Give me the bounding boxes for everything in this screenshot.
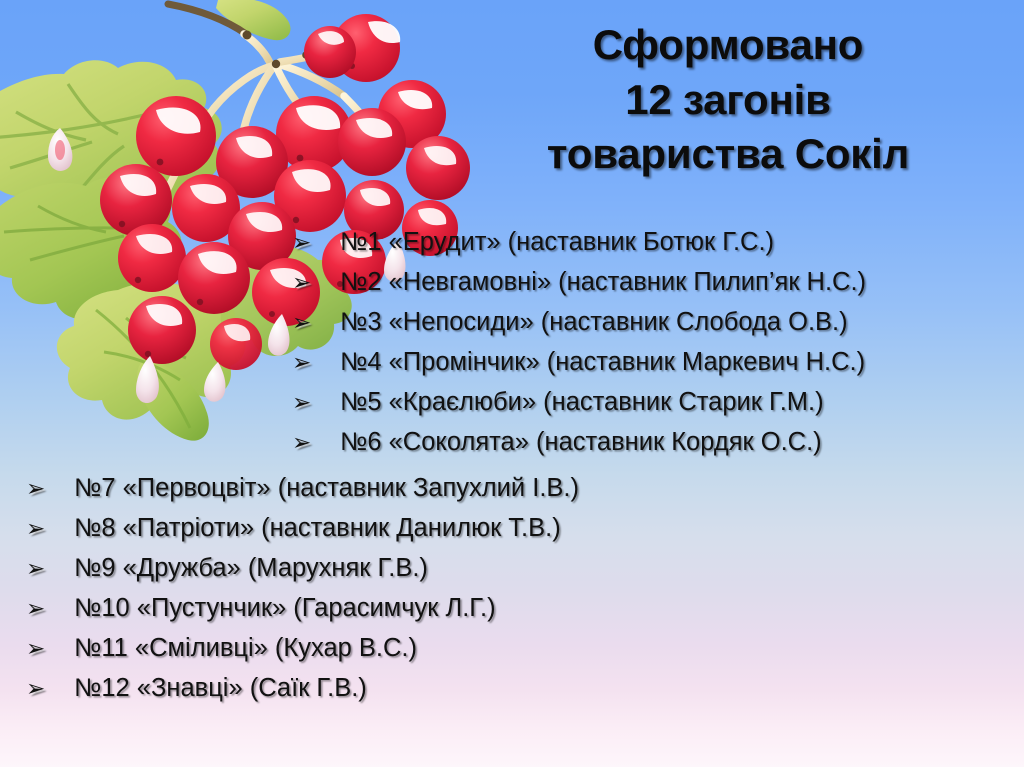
arrow-bullet-icon: ➢ bbox=[26, 468, 74, 508]
slide-title-line-1: Сформовано bbox=[432, 18, 1024, 73]
squad-list-full-width: ➢ №7 «Первоцвіт» (наставник Запухлий І.В… bbox=[26, 468, 1024, 708]
list-item-label: №6 «Соколята» (наставник Кордяк О.С.) bbox=[340, 422, 822, 462]
arrow-bullet-icon: ➢ bbox=[292, 422, 340, 462]
arrow-bullet-icon: ➢ bbox=[26, 628, 74, 668]
list-item-label: №9 «Дружба» (Марухняк Г.В.) bbox=[74, 548, 428, 588]
list-item[interactable]: ➢ №3 «Непосиди» (наставник Слобода О.В.) bbox=[292, 302, 1024, 342]
list-item-label: №1 «Ерудит» (наставник Ботюк Г.С.) bbox=[340, 222, 774, 262]
list-item[interactable]: ➢ №9 «Дружба» (Марухняк Г.В.) bbox=[26, 548, 1024, 588]
list-item-label: №4 «Промінчик» (наставник Маркевич Н.С.) bbox=[340, 342, 865, 382]
list-item[interactable]: ➢ №7 «Первоцвіт» (наставник Запухлий І.В… bbox=[26, 468, 1024, 508]
list-item[interactable]: ➢ №1 «Ерудит» (наставник Ботюк Г.С.) bbox=[292, 222, 1024, 262]
squad-list-indented: ➢ №1 «Ерудит» (наставник Ботюк Г.С.) ➢ №… bbox=[292, 222, 1024, 462]
list-item-label: №5 «Краєлюби» (наставник Старик Г.М.) bbox=[340, 382, 824, 422]
list-item[interactable]: ➢ №2 «Невгамовні» (наставник Пилип’як Н.… bbox=[292, 262, 1024, 302]
list-item-label: №10 «Пустунчик» (Гарасимчук Л.Г.) bbox=[74, 588, 496, 628]
arrow-bullet-icon: ➢ bbox=[26, 668, 74, 708]
arrow-bullet-icon: ➢ bbox=[26, 588, 74, 628]
list-item-label: №11 «Сміливці» (Кухар В.С.) bbox=[74, 628, 417, 668]
arrow-bullet-icon: ➢ bbox=[26, 508, 74, 548]
list-item[interactable]: ➢ №8 «Патріоти» (наставник Данилюк Т.В.) bbox=[26, 508, 1024, 548]
slide-title-line-2: 12 загонів bbox=[432, 73, 1024, 128]
arrow-bullet-icon: ➢ bbox=[292, 222, 340, 262]
list-item[interactable]: ➢ №11 «Сміливці» (Кухар В.С.) bbox=[26, 628, 1024, 668]
list-item[interactable]: ➢ №12 «Знавці» (Саїк Г.В.) bbox=[26, 668, 1024, 708]
slide: Сформовано 12 загонів товариства Сокіл ➢… bbox=[0, 0, 1024, 767]
list-item-label: №12 «Знавці» (Саїк Г.В.) bbox=[74, 668, 367, 708]
list-item-label: №8 «Патріоти» (наставник Данилюк Т.В.) bbox=[74, 508, 561, 548]
list-item-label: №7 «Первоцвіт» (наставник Запухлий І.В.) bbox=[74, 468, 579, 508]
list-item[interactable]: ➢ №10 «Пустунчик» (Гарасимчук Л.Г.) bbox=[26, 588, 1024, 628]
list-item[interactable]: ➢ №6 «Соколята» (наставник Кордяк О.С.) bbox=[292, 422, 1024, 462]
arrow-bullet-icon: ➢ bbox=[292, 382, 340, 422]
slide-title-line-3: товариства Сокіл bbox=[432, 127, 1024, 182]
arrow-bullet-icon: ➢ bbox=[292, 342, 340, 382]
arrow-bullet-icon: ➢ bbox=[26, 548, 74, 588]
list-item[interactable]: ➢ №4 «Промінчик» (наставник Маркевич Н.С… bbox=[292, 342, 1024, 382]
list-item-label: №3 «Непосиди» (наставник Слобода О.В.) bbox=[340, 302, 848, 342]
branch-stems bbox=[158, 4, 382, 230]
slide-title: Сформовано 12 загонів товариства Сокіл bbox=[432, 18, 1024, 182]
list-item-label: №2 «Невгамовні» (наставник Пилип’як Н.С.… bbox=[340, 262, 866, 302]
list-item[interactable]: ➢ №5 «Краєлюби» (наставник Старик Г.М.) bbox=[292, 382, 1024, 422]
arrow-bullet-icon: ➢ bbox=[292, 302, 340, 342]
arrow-bullet-icon: ➢ bbox=[292, 262, 340, 302]
